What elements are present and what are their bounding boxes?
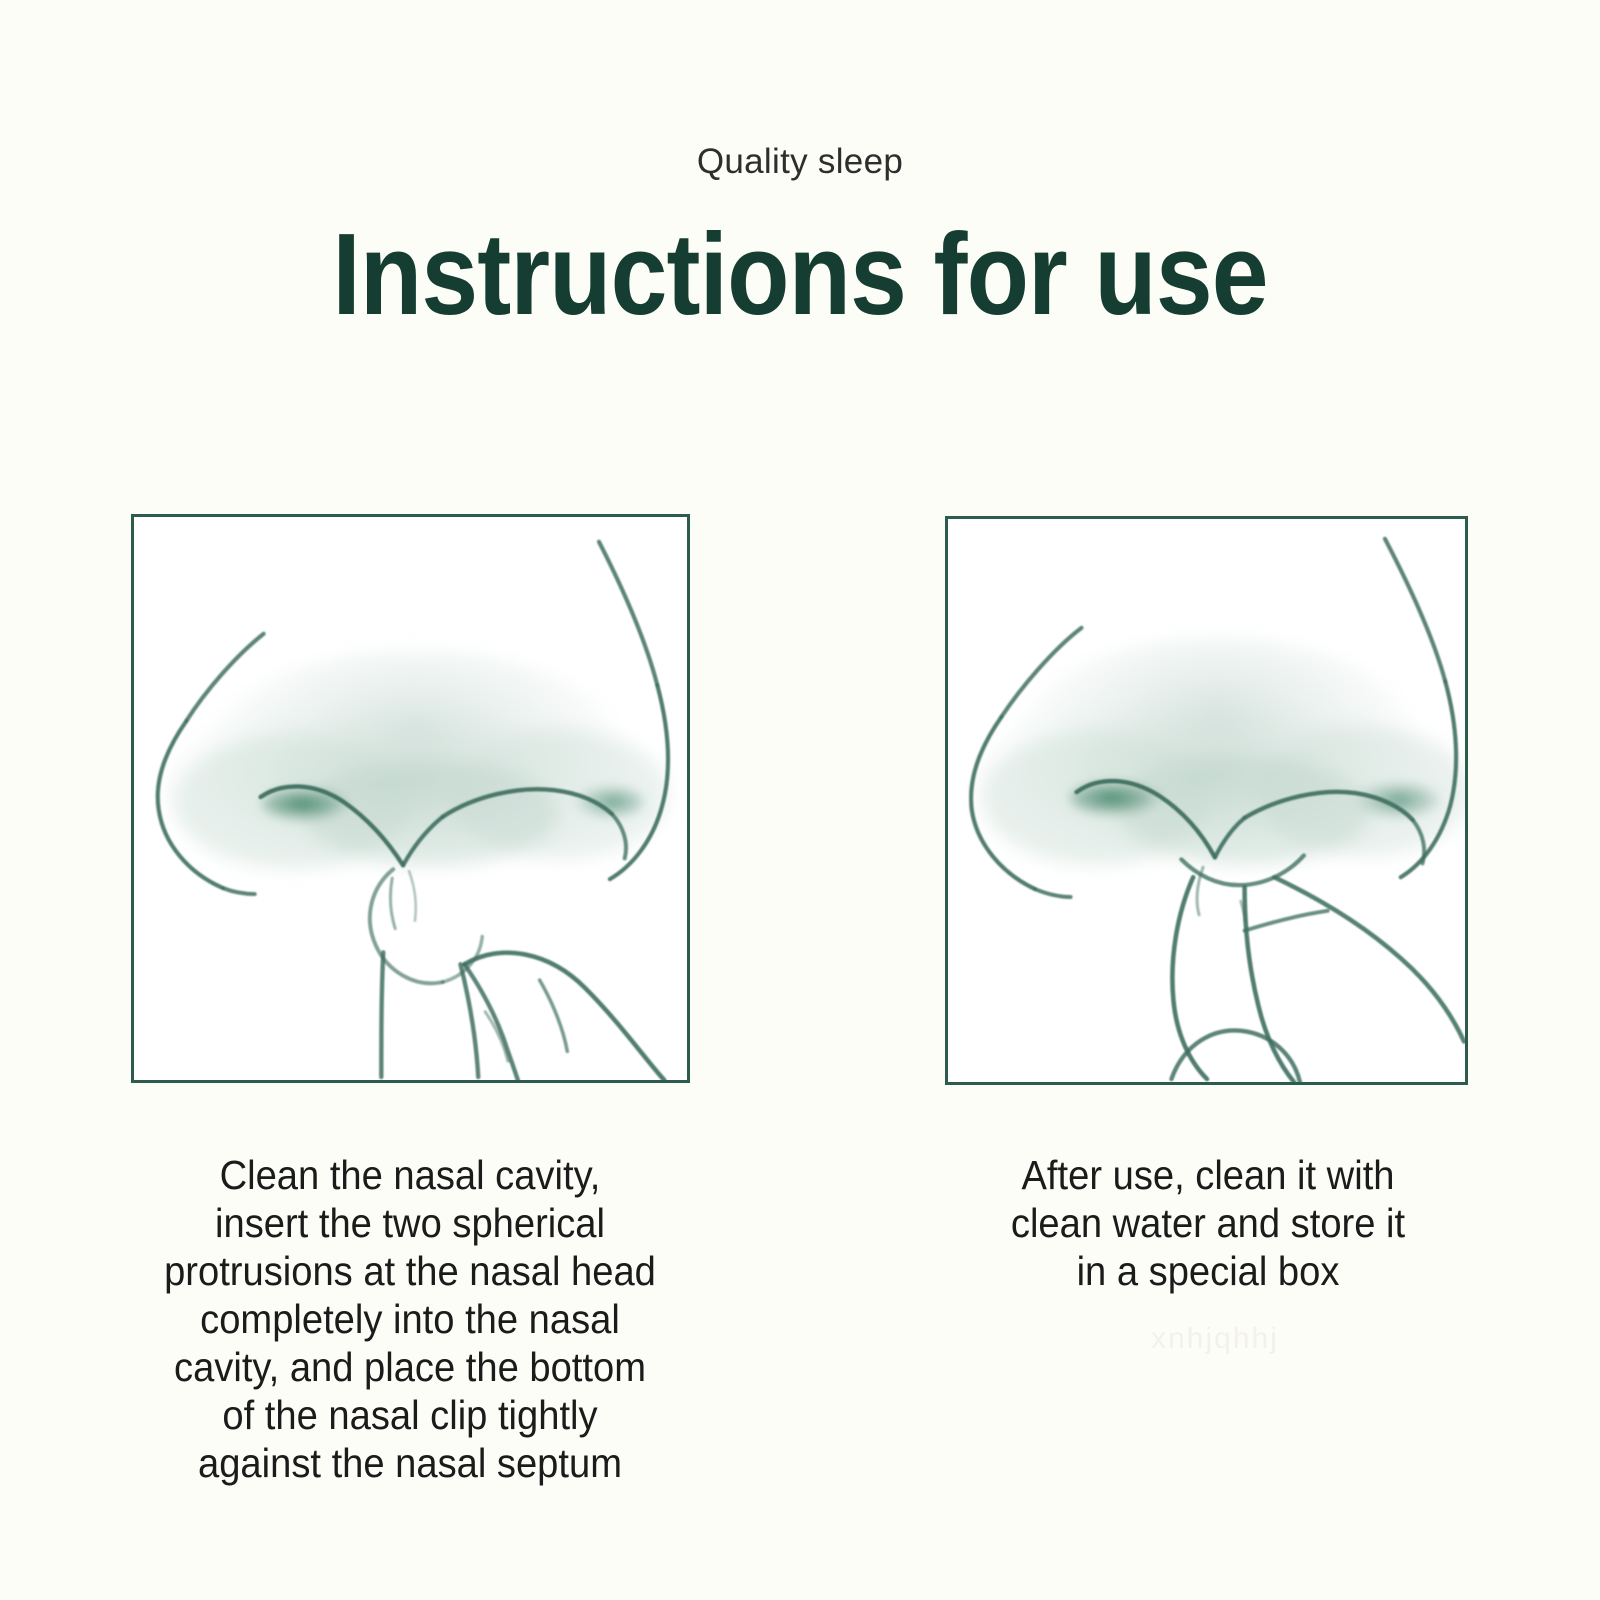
caption-line: clean water and store it xyxy=(949,1200,1466,1248)
caption-line: of the nasal clip tightly xyxy=(122,1392,699,1440)
watermark-text: xnhjqhhj xyxy=(1050,1322,1380,1356)
caption-line: protrusions at the nasal head xyxy=(122,1248,699,1296)
caption-line: completely into the nasal xyxy=(122,1296,699,1344)
nose-with-nasal-clip-insertion-illustration xyxy=(134,517,687,1080)
step-1-caption: Clean the nasal cavity, insert the two s… xyxy=(122,1152,699,1488)
eyebrow-text: Quality sleep xyxy=(0,144,1600,179)
caption-line: Clean the nasal cavity, xyxy=(122,1152,699,1200)
page-title: Instructions for use xyxy=(96,216,1504,332)
caption-line: against the nasal septum xyxy=(122,1440,699,1488)
caption-line: After use, clean it with xyxy=(949,1152,1466,1200)
step-2-caption: After use, clean it with clean water and… xyxy=(949,1152,1466,1296)
caption-line: cavity, and place the bottom xyxy=(122,1344,699,1392)
caption-line: insert the two spherical xyxy=(122,1200,699,1248)
nose-with-nasal-clip-in-place-illustration xyxy=(948,519,1465,1082)
step-1-figure-panel xyxy=(131,514,690,1083)
caption-line: in a special box xyxy=(949,1248,1466,1296)
instructions-page: Quality sleep Instructions for use xyxy=(0,0,1600,1600)
step-2-figure-panel xyxy=(945,516,1468,1085)
